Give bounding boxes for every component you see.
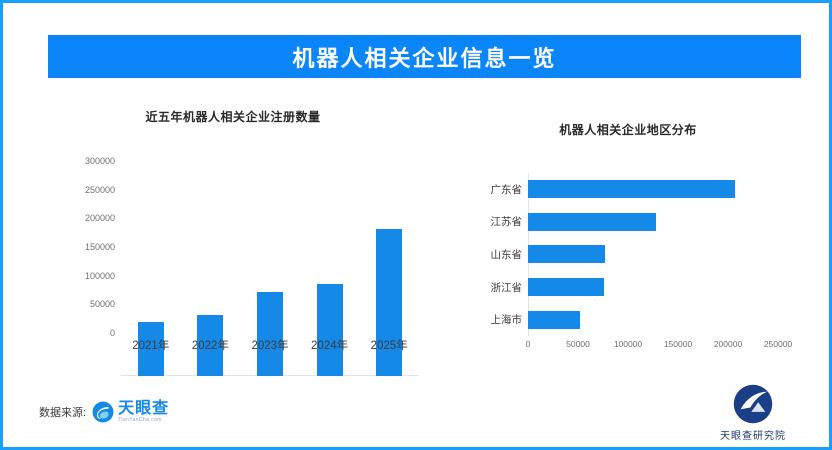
column-chart-y-tick: 0	[55, 328, 115, 338]
bar-chart-bar	[528, 245, 605, 263]
column-chart-panel: 近五年机器人相关企业注册数量 0500001000001500002000002…	[53, 103, 433, 368]
bar-chart-row: 广东省	[528, 173, 778, 206]
column-chart-x-axis: 2021年2022年2023年2024年2025年	[121, 337, 419, 353]
column-chart-y-tick: 150000	[55, 242, 115, 252]
bar-chart-category-label: 山东省	[466, 247, 522, 262]
institute-emblem-icon	[732, 383, 774, 425]
column-chart-x-label: 2023年	[240, 337, 300, 353]
column-chart-bar	[376, 229, 402, 376]
column-chart-title: 近五年机器人相关企业注册数量	[128, 108, 338, 125]
column-chart-x-label: 2025年	[359, 337, 419, 353]
column-chart-y-tick: 300000	[55, 156, 115, 166]
column-chart-bar	[317, 284, 343, 376]
column-chart-x-label: 2022年	[181, 337, 241, 353]
tianyancha-wordmark: 天眼查	[118, 401, 169, 417]
bar-chart-category-label: 浙江省	[466, 280, 522, 295]
infographic-poster: 机器人相关企业信息一览 近五年机器人相关企业注册数量 0500001000001…	[0, 0, 832, 450]
bar-chart-row: 上海市	[528, 303, 778, 336]
column-chart-x-label: 2024年	[300, 337, 360, 353]
bar-chart-x-tick: 250000	[764, 339, 792, 349]
institute-name: 天眼查研究院	[720, 427, 786, 442]
bar-chart-x-tick: 200000	[714, 339, 742, 349]
bar-chart-x-tick: 50000	[566, 339, 590, 349]
bar-chart-category-label: 上海市	[466, 312, 522, 327]
bar-chart-plot: 广东省江苏省山东省浙江省上海市 050000100000150000200000…	[528, 173, 778, 373]
tianyancha-swoosh-icon	[92, 401, 114, 423]
bar-chart-x-tick: 100000	[614, 339, 642, 349]
tianyancha-domain: TianYanCha.com	[118, 418, 169, 423]
bar-chart-x-axis: 050000100000150000200000250000	[528, 339, 778, 353]
column-chart-plot: 050000100000150000200000250000300000 202…	[121, 161, 419, 376]
bar-chart-bar	[528, 278, 604, 296]
column-chart-y-tick: 50000	[55, 299, 115, 309]
bar-chart-bar	[528, 311, 580, 329]
bar-chart-bar	[528, 180, 735, 198]
bar-chart-bar	[528, 213, 656, 231]
bar-chart-row: 山东省	[528, 238, 778, 271]
bar-chart-category-label: 江苏省	[466, 214, 522, 229]
bar-chart-panel: 机器人相关企业地区分布 广东省江苏省山东省浙江省上海市 050000100000…	[458, 103, 798, 368]
column-chart-y-tick: 100000	[55, 271, 115, 281]
institute-logo: 天眼查研究院	[707, 383, 799, 442]
data-source-label: 数据来源:	[39, 404, 86, 420]
column-chart-y-tick: 200000	[55, 213, 115, 223]
bar-chart-title: 机器人相关企业地区分布	[513, 121, 743, 138]
column-chart-x-label: 2021年	[121, 337, 181, 353]
bar-chart-category-label: 广东省	[466, 182, 522, 197]
data-source: 数据来源: 天眼查 TianYanCha.com	[39, 401, 169, 423]
bar-chart-bars: 广东省江苏省山东省浙江省上海市	[528, 173, 778, 336]
page-title: 机器人相关企业信息一览	[292, 41, 556, 73]
bar-chart-x-tick: 150000	[664, 339, 692, 349]
bar-chart-x-tick: 0	[526, 339, 531, 349]
header-banner: 机器人相关企业信息一览	[48, 35, 801, 78]
column-chart-y-tick: 250000	[55, 185, 115, 195]
bar-chart-row: 江苏省	[528, 206, 778, 239]
tianyancha-logo: 天眼查 TianYanCha.com	[92, 401, 169, 423]
column-chart-bar	[257, 292, 283, 376]
bar-chart-row: 浙江省	[528, 271, 778, 304]
